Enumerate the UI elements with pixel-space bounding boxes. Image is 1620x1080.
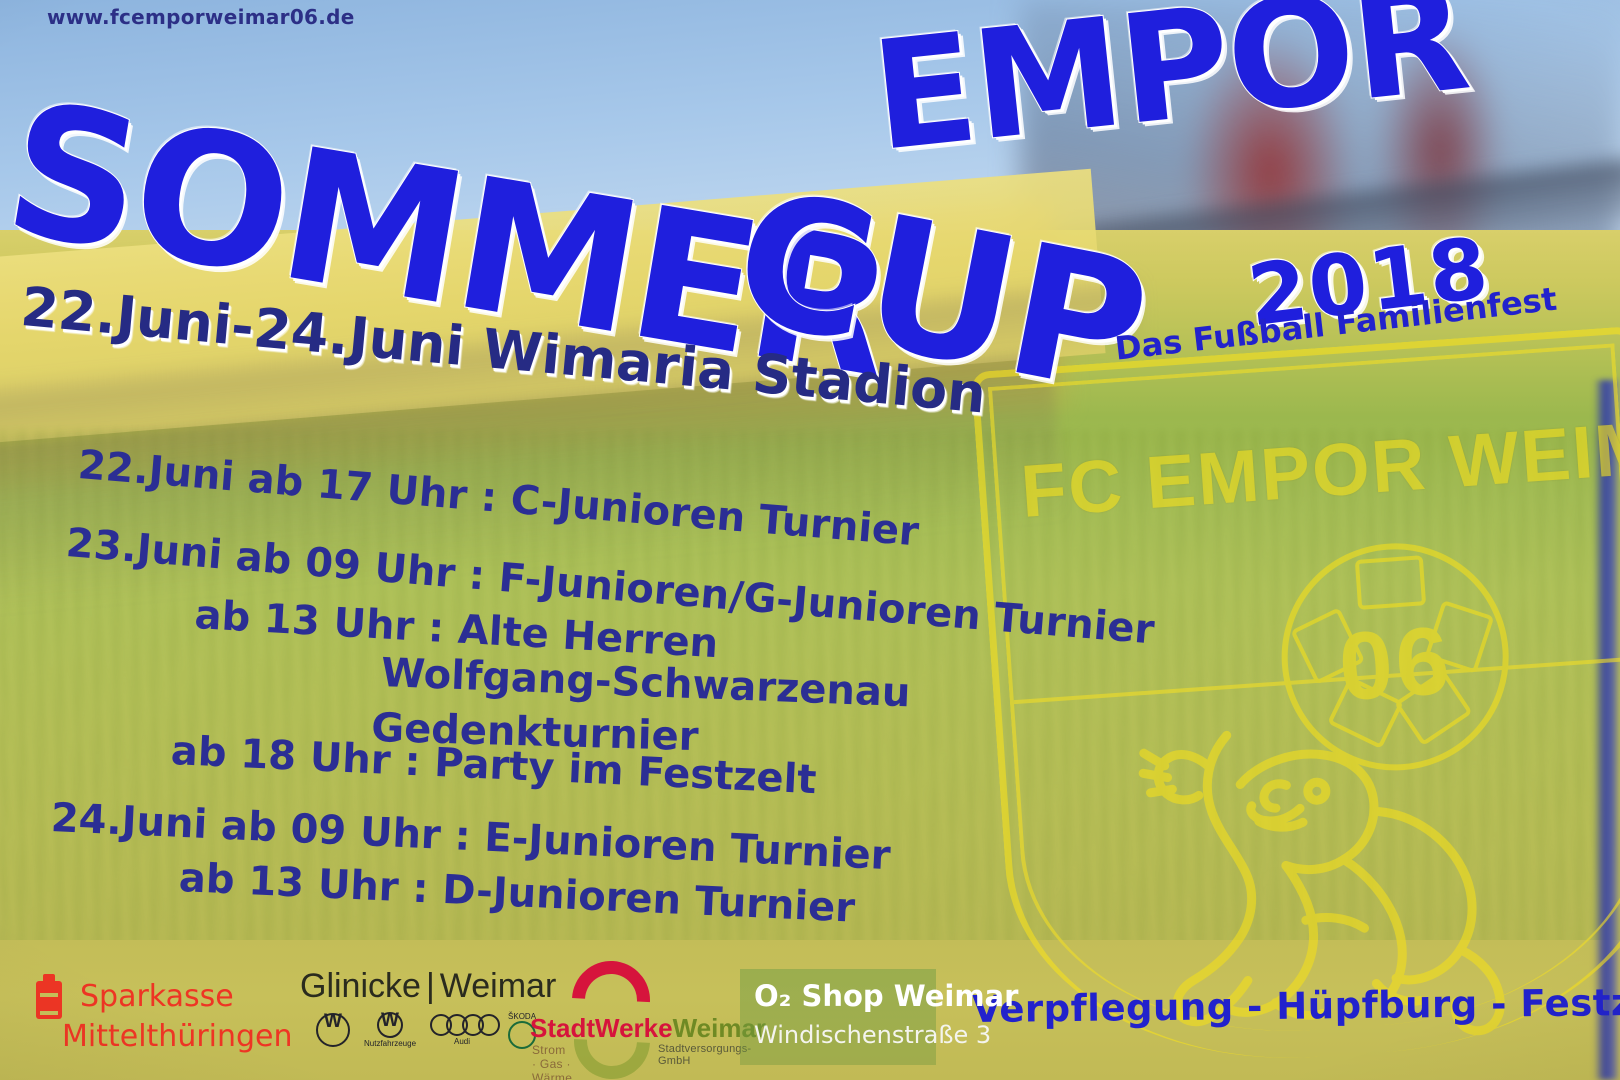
o2-shop-name: O₂ Shop Weimar: [754, 979, 1018, 1013]
football-panel: [1355, 555, 1426, 610]
vw-logo-icon: [316, 1013, 350, 1047]
vw-caption: Nutzfahrzeuge: [364, 1039, 416, 1048]
stadtwerke-subline: Strom · Gas · Wärme: [532, 1043, 572, 1080]
vw-brand: [316, 1013, 350, 1047]
audi-brand: Audi: [430, 1014, 494, 1046]
schedule-block: 22.Juni ab 17 Uhr : C-Junioren Turnier 2…: [0, 0, 1010, 560]
stadtwerke-wordmark: StadtWerkeWeimar: [530, 1013, 766, 1044]
glinicke-name: Glinicke: [300, 967, 421, 1005]
sponsor-o2-shop[interactable]: O₂ Shop Weimar Windischenstraße 3: [740, 969, 936, 1065]
poster-canvas: FC EMPOR WEIMAR 06: [0, 0, 1620, 1080]
audi-caption: Audi: [454, 1037, 470, 1046]
sponsor-glinicke[interactable]: Glinicke|Weimar Nutzfahrzeuge Audi ŠKODA: [300, 967, 556, 1006]
stadtwerke-part1: StadtWerke: [530, 1013, 673, 1043]
sparkasse-logo-icon: [36, 981, 62, 1019]
glinicke-city: Weimar: [440, 967, 557, 1005]
sparkasse-name: Sparkasse: [80, 979, 234, 1014]
glinicke-wordmark: Glinicke|Weimar: [300, 967, 556, 1006]
audi-logo-icon: [430, 1014, 494, 1036]
sponsor-row: Sparkasse Mittelthüringen Glinicke|Weima…: [0, 955, 960, 1080]
stadtwerke-legal: Stadtversorgungs-GmbH: [658, 1043, 751, 1067]
features-line: Verpflegung - Hüpfburg - Festzelt - Musi…: [972, 979, 1620, 1031]
club-crest: FC EMPOR WEIMAR 06: [961, 327, 1620, 1080]
vw-logo-icon: [377, 1012, 403, 1038]
vw-nutzfahrzeuge-brand: Nutzfahrzeuge: [364, 1012, 416, 1048]
sparkasse-region: Mittelthüringen: [62, 1019, 293, 1054]
o2-shop-address: Windischenstraße 3: [754, 1021, 991, 1049]
glinicke-brand-logos: Nutzfahrzeuge Audi ŠKODA: [316, 1011, 536, 1049]
glinicke-separator: |: [426, 967, 435, 1005]
